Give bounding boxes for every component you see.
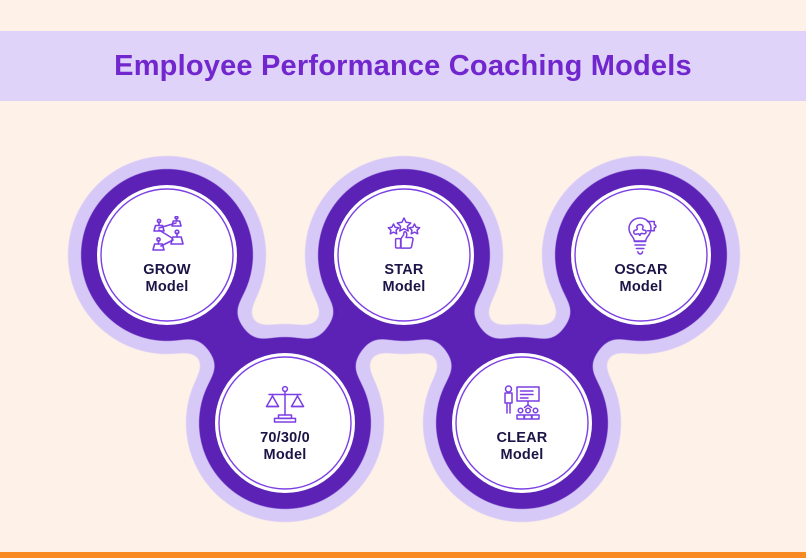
- node-label-line1: GROW: [143, 262, 191, 278]
- bottom-accent-bar: [0, 552, 806, 558]
- node-70-30-0[interactable]: 70/30/0 Model: [217, 355, 353, 491]
- node-label-line2: Model: [260, 447, 310, 464]
- node-label-clear: CLEAR Model: [497, 430, 548, 464]
- node-label-line2: Model: [383, 279, 426, 296]
- thumbs-up-stars-icon: [382, 214, 426, 258]
- balance-scale-icon: [263, 382, 307, 426]
- node-label-70-30-0: 70/30/0 Model: [260, 430, 310, 464]
- node-label-line1: STAR: [384, 262, 423, 278]
- node-label-line1: CLEAR: [497, 430, 548, 446]
- node-label-grow: GROW Model: [143, 262, 191, 296]
- node-clear[interactable]: CLEAR Model: [454, 355, 590, 491]
- network-nodes-icon: [145, 214, 189, 258]
- node-label-line1: 70/30/0: [260, 430, 310, 446]
- node-label-line1: OSCAR: [614, 262, 667, 278]
- node-label-line2: Model: [614, 279, 667, 296]
- presentation-training-icon: [500, 382, 544, 426]
- node-label-line2: Model: [143, 279, 191, 296]
- node-star[interactable]: STAR Model: [336, 187, 472, 323]
- node-grow[interactable]: GROW Model: [99, 187, 235, 323]
- node-oscar[interactable]: OSCAR Model: [573, 187, 709, 323]
- node-label-star: STAR Model: [383, 262, 426, 296]
- node-label-line2: Model: [497, 447, 548, 464]
- node-label-oscar: OSCAR Model: [614, 262, 667, 296]
- infographic-canvas: Employee Performance Coaching Models: [0, 0, 806, 558]
- lightbulb-puzzle-icon: [619, 214, 663, 258]
